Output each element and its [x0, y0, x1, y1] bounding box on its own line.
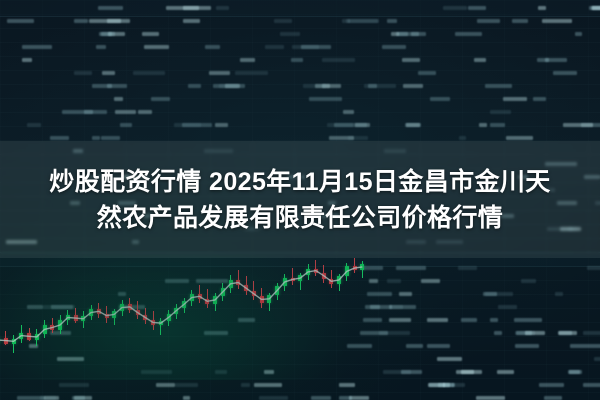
candle-body	[4, 338, 8, 344]
candle-body	[190, 294, 194, 302]
chart-glow	[0, 255, 368, 380]
candle-body	[275, 286, 279, 295]
candle-body	[267, 295, 271, 303]
moving-average-line	[0, 255, 368, 380]
candle-body	[236, 280, 240, 285]
candle-body	[27, 333, 31, 341]
candle-body	[329, 279, 333, 284]
thumbnail-canvas: 炒股配资行情 2025年11月15日金昌市金川天 然农产品发展有限责任公司价格行…	[0, 0, 600, 400]
candle-body	[353, 266, 357, 270]
candlestick-chart	[0, 255, 368, 380]
candle-body	[12, 339, 16, 344]
candle-body	[298, 275, 302, 281]
candle-body	[43, 325, 47, 334]
candle-body	[182, 301, 186, 307]
candle-body	[89, 309, 93, 317]
headline-block: 炒股配资行情 2025年11月15日金昌市金川天 然农产品发展有限责任公司价格行…	[0, 141, 600, 258]
candle-body	[260, 296, 264, 302]
candle-body	[360, 264, 364, 270]
candle-body	[136, 310, 140, 315]
candle-body	[221, 288, 225, 297]
candle-wick	[292, 268, 293, 286]
candle-body	[174, 308, 178, 314]
headline-line-2: 然农产品发展有限责任公司价格行情	[97, 203, 503, 233]
candle-body	[120, 304, 124, 312]
candle-body	[19, 333, 23, 339]
candle-body	[244, 285, 248, 291]
terminal-top-toolbar	[0, 0, 600, 17]
candle-body	[205, 299, 209, 304]
candle-body	[337, 276, 341, 284]
candle-body	[105, 314, 109, 318]
candle-wick	[354, 258, 355, 273]
candle-body	[198, 294, 202, 299]
headline-line-1: 炒股配资行情 2025年11月15日金昌市金川天	[49, 167, 550, 197]
candle-body	[151, 320, 155, 325]
candle-body	[66, 315, 70, 320]
candle-wick	[160, 318, 161, 336]
candle-body	[252, 291, 256, 296]
candle-body	[50, 325, 54, 330]
candle-body	[97, 309, 101, 314]
candle-body	[81, 316, 85, 321]
candle-body	[167, 314, 171, 322]
candle-body	[58, 320, 62, 330]
candle-body	[213, 296, 217, 304]
candle-body	[283, 278, 287, 287]
candle-body	[314, 269, 318, 273]
candle-body	[128, 304, 132, 310]
candle-body	[74, 315, 78, 321]
candle-body	[35, 334, 39, 340]
candle-body	[291, 278, 295, 282]
candle-body	[306, 269, 310, 275]
candle-body	[322, 273, 326, 279]
candle-body	[112, 311, 116, 317]
candle-body	[229, 280, 233, 288]
candle-body	[143, 315, 147, 320]
candle-body	[345, 266, 349, 276]
candle-body	[159, 321, 163, 325]
